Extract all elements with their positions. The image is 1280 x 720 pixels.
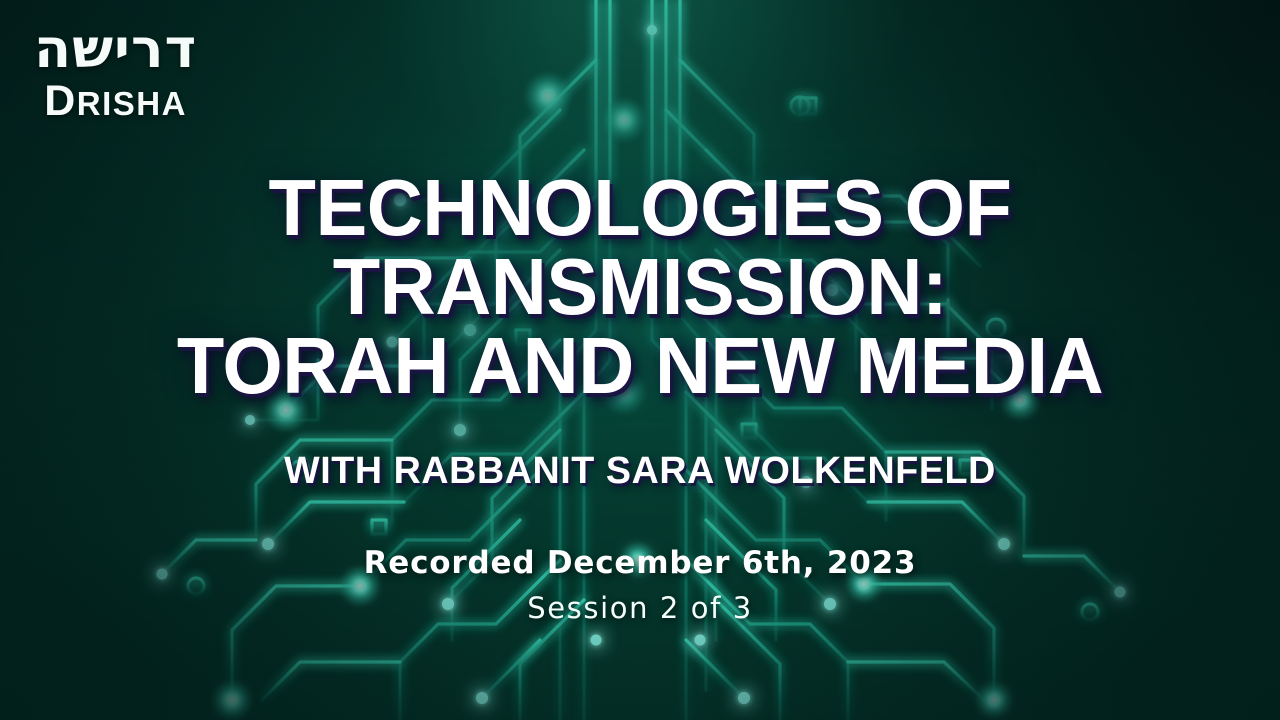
drisha-logo-rest: RISHA: [77, 85, 187, 122]
drisha-logo-wordmark: DRISHA: [34, 80, 197, 123]
drisha-logo-hebrew: דרישה: [34, 22, 197, 76]
slide-content: TECHNOLOGIES OF TRANSMISSION: TORAH AND …: [0, 168, 1280, 625]
page-title: TECHNOLOGIES OF TRANSMISSION: TORAH AND …: [19, 168, 1261, 406]
session-counter: Session 2 of 3: [0, 591, 1280, 625]
drisha-logo: דרישה DRISHA: [34, 22, 197, 123]
presenter-line: WITH RABBANIT SARA WOLKENFELD: [6, 450, 1273, 493]
title-line-3: TORAH AND NEW MEDIA: [58, 326, 1222, 405]
recorded-date: Recorded December 6th, 2023: [0, 545, 1280, 581]
title-line-2: TRANSMISSION:: [58, 247, 1222, 326]
drisha-logo-initial: D: [44, 77, 77, 125]
title-line-1: TECHNOLOGIES OF: [58, 168, 1222, 247]
video-title-slide: דרישה DRISHA TECHNOLOGIES OF TRANSMISSIO…: [0, 0, 1280, 720]
